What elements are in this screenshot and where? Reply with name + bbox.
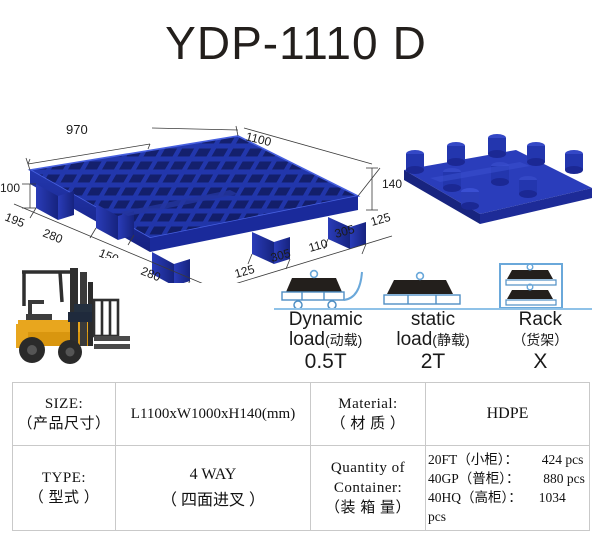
size-label-cn: （产品尺寸） bbox=[15, 414, 113, 434]
type-value-cell: 4 WAY （ 四面进叉 ） bbox=[116, 446, 311, 531]
list-item: 40HQ（高柜）：1034 pcs bbox=[428, 488, 587, 526]
load-icons-row bbox=[272, 262, 594, 310]
model-suffix: D bbox=[393, 17, 427, 69]
dim-side-110: 110 bbox=[307, 236, 330, 255]
model-number: YDP-1110 bbox=[165, 17, 378, 69]
type-label-cn: （ 型式 ） bbox=[15, 488, 113, 508]
dynamic-load-label: Dynamic load(动载) 0.5T bbox=[272, 310, 379, 374]
material-label-en: Material: bbox=[313, 394, 423, 414]
rack-load-icon bbox=[500, 264, 562, 308]
spec-table: SIZE: （产品尺寸） L1100xW1000xH140(mm) Materi… bbox=[12, 382, 590, 531]
type-label-en: TYPE: bbox=[15, 468, 113, 488]
container-type-40hq: 40HQ（高柜）： bbox=[428, 490, 522, 505]
material-label-cn: （ 材 质 ） bbox=[313, 414, 423, 434]
type-value-cn: （ 四面进叉 ） bbox=[118, 488, 308, 514]
list-item: 40GP（普柜）：880 pcs bbox=[428, 469, 587, 488]
quantity-label-en-2: Container: bbox=[313, 478, 423, 498]
quantity-label-cell: Quantity of Container: （装 箱 量） bbox=[311, 446, 426, 531]
size-label-cell: SIZE: （产品尺寸） bbox=[13, 383, 116, 446]
forklift-svg bbox=[8, 258, 140, 376]
dim-total-height-140: 140 bbox=[382, 177, 402, 191]
pallet-bottom-view bbox=[404, 134, 592, 224]
static-load-icon bbox=[384, 273, 460, 304]
type-label-cell: TYPE: （ 型式 ） bbox=[13, 446, 116, 531]
list-item: 20FT（小柜）：424 pcs bbox=[428, 450, 587, 469]
static-load-line2-cn: (静载) bbox=[432, 332, 469, 348]
size-value: L1100xW1000xH140 bbox=[131, 406, 262, 422]
pallet-diagram-svg: 970 1100 100 140 195 280 150 280 195 125… bbox=[0, 108, 600, 283]
dim-front-280-a: 280 bbox=[41, 226, 65, 247]
size-value-cell: L1100xW1000xH140(mm) bbox=[116, 383, 311, 446]
quantity-value-cell: 20FT（小柜）：424 pcs 40GP（普柜）：880 pcs 40HQ（高… bbox=[426, 446, 590, 531]
material-value-cell: HDPE bbox=[426, 383, 590, 446]
container-unit-40hq: pcs bbox=[428, 509, 446, 524]
size-unit: (mm) bbox=[262, 406, 295, 422]
rack-load-value: X bbox=[487, 350, 594, 374]
forklift-fork-icon bbox=[94, 336, 130, 341]
rack-load-label: Rack （货架） X bbox=[487, 310, 594, 374]
quantity-label-en-1: Quantity of bbox=[313, 458, 423, 478]
container-qty-40gp: 880 bbox=[520, 469, 564, 488]
dynamic-load-line1: Dynamic bbox=[272, 310, 379, 330]
page-title: YDP-1110D bbox=[0, 16, 600, 70]
type-value-en: 4 WAY bbox=[118, 462, 308, 488]
dynamic-load-icon bbox=[282, 271, 362, 309]
static-load-line2-en: load bbox=[396, 329, 432, 350]
static-load-value: 2T bbox=[379, 350, 486, 374]
container-type-20ft: 20FT（小柜）： bbox=[428, 452, 518, 467]
dim-front-195-a: 195 bbox=[3, 210, 27, 231]
table-row: SIZE: （产品尺寸） L1100xW1000xH140(mm) Materi… bbox=[13, 383, 590, 446]
rack-load-line2-cn: （货架） bbox=[512, 332, 568, 348]
pallet-diagram: 970 1100 100 140 195 280 150 280 195 125… bbox=[0, 108, 600, 283]
load-capacity-panel: Dynamic load(动载) 0.5T static load(静载) 2T… bbox=[272, 262, 594, 380]
forklift-photo bbox=[8, 258, 140, 376]
container-unit-20ft: pcs bbox=[565, 452, 583, 467]
rack-load-line1: Rack bbox=[487, 310, 594, 330]
dim-side-125-b: 125 bbox=[369, 210, 392, 229]
dim-leg-height-100: 100 bbox=[0, 181, 20, 195]
container-type-40gp: 40GP（普柜）： bbox=[428, 471, 520, 486]
size-label-en: SIZE: bbox=[15, 394, 113, 414]
dynamic-load-value: 0.5T bbox=[272, 350, 379, 374]
static-load-label: static load(静载) 2T bbox=[379, 310, 486, 374]
dim-width-970: 970 bbox=[66, 122, 88, 137]
dynamic-load-line2-en: load bbox=[289, 329, 325, 350]
container-qty-20ft: 424 bbox=[518, 450, 562, 469]
load-icons-svg bbox=[272, 262, 594, 310]
container-quantity-list: 20FT（小柜）：424 pcs 40GP（普柜）：880 pcs 40HQ（高… bbox=[428, 450, 587, 526]
dynamic-load-line2-cn: (动载) bbox=[325, 332, 362, 348]
container-unit-40gp: pcs bbox=[567, 471, 585, 486]
load-labels-row: Dynamic load(动载) 0.5T static load(静载) 2T… bbox=[272, 310, 594, 374]
container-qty-40hq: 1034 bbox=[522, 488, 566, 507]
quantity-label-cn: （装 箱 量） bbox=[313, 498, 423, 518]
material-label-cell: Material: （ 材 质 ） bbox=[311, 383, 426, 446]
product-spec-sheet: YDP-1110D bbox=[0, 0, 600, 539]
table-row: TYPE: （ 型式 ） 4 WAY （ 四面进叉 ） Quantity of … bbox=[13, 446, 590, 531]
static-load-line1: static bbox=[379, 310, 486, 330]
